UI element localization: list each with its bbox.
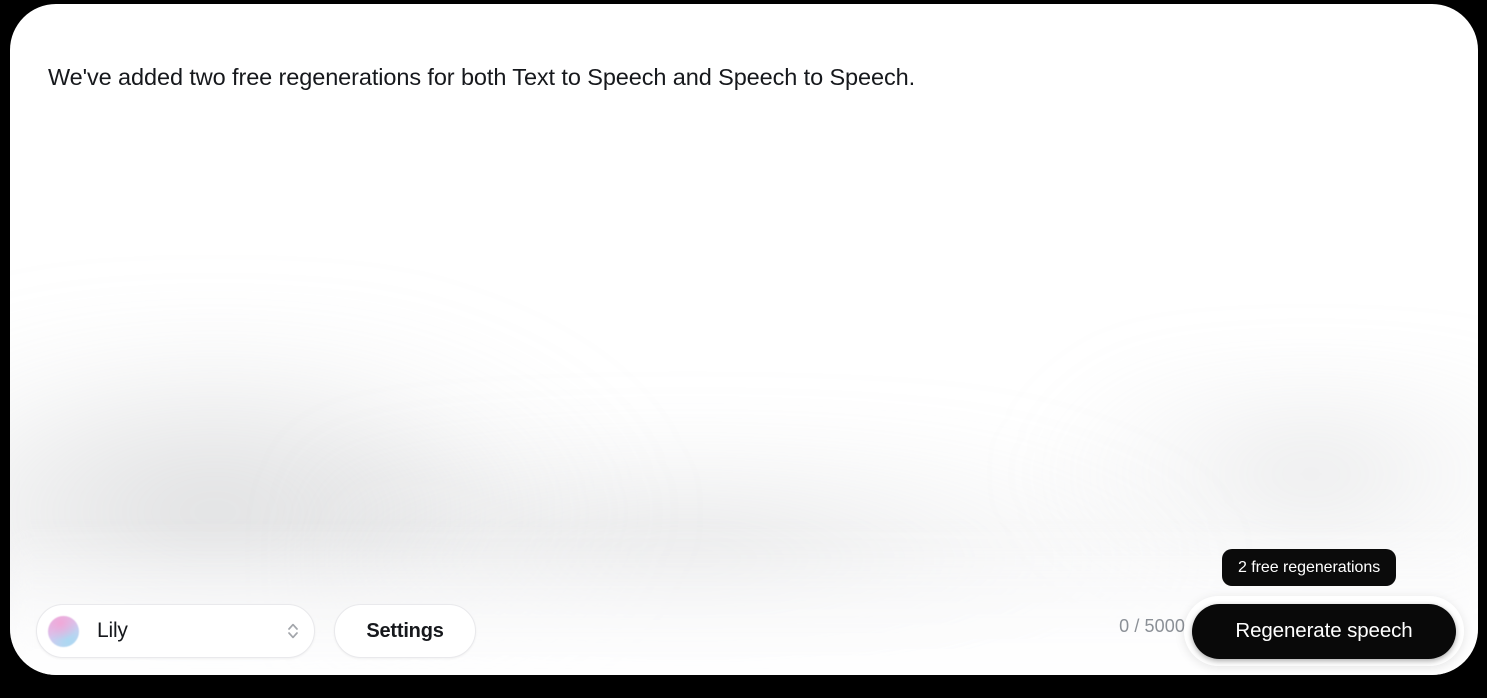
app-panel: We've added two free regenerations for b…: [10, 4, 1478, 675]
bottom-toolbar: Lily Settings 0 / 5000 Regenerate speech: [10, 600, 1478, 675]
chevron-up-down-icon: [286, 620, 300, 642]
screen-backdrop: We've added two free regenerations for b…: [0, 0, 1487, 698]
character-counter: 0 / 5000: [1090, 616, 1185, 637]
regenerate-speech-button[interactable]: Regenerate speech: [1192, 604, 1456, 659]
free-regenerations-tooltip: 2 free regenerations: [1222, 549, 1396, 586]
voice-avatar-icon: [48, 616, 79, 647]
announcement-text: We've added two free regenerations for b…: [48, 61, 915, 93]
voice-selector-label: Lily: [97, 619, 286, 643]
voice-selector[interactable]: Lily: [36, 604, 315, 658]
settings-button[interactable]: Settings: [334, 604, 476, 658]
regenerate-button-halo: Regenerate speech: [1184, 596, 1464, 666]
